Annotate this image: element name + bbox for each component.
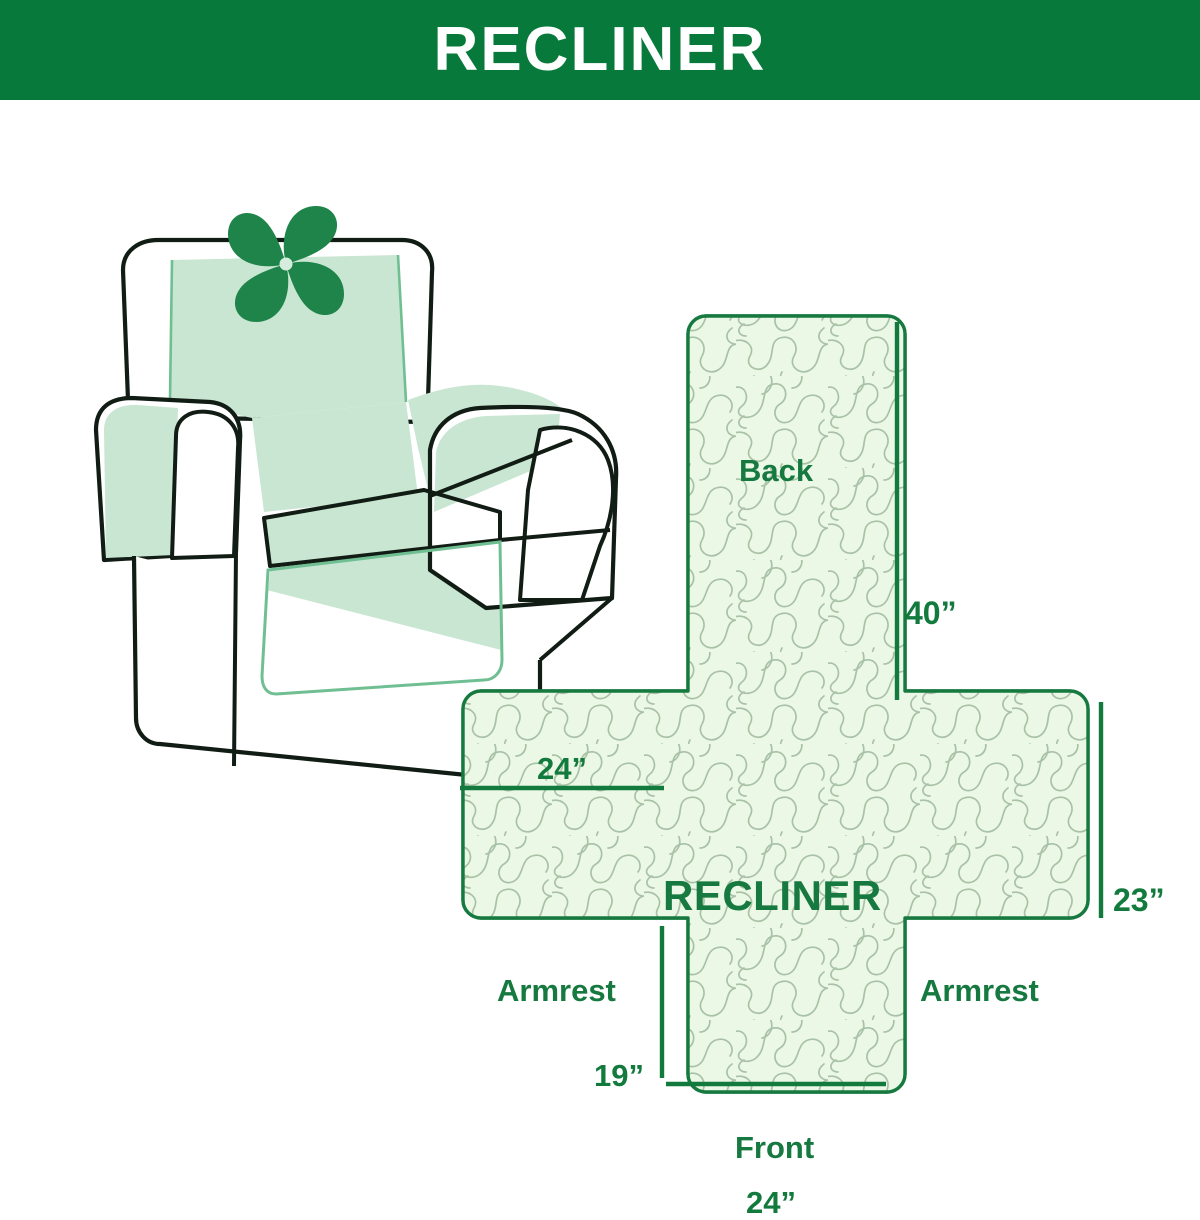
dimension-label-armrest-height: 23”	[1113, 884, 1165, 916]
dimension-label-back-height: 40”	[905, 597, 957, 629]
dimension-label-front-height: 19”	[594, 1060, 644, 1091]
panel-label-armrest-left: Armrest	[497, 975, 616, 1006]
diagram-canvas: Back RECLINER Armrest Armrest Front 40” …	[0, 100, 1200, 1200]
cover-size-diagram	[0, 100, 1200, 1200]
panel-label-center: RECLINER	[663, 875, 882, 917]
dimension-label-armrest-width: 24”	[537, 753, 587, 784]
page-title: RECLINER	[434, 19, 767, 81]
panel-label-back: Back	[739, 455, 813, 486]
header-banner: RECLINER	[0, 0, 1200, 100]
panel-label-armrest-right: Armrest	[920, 975, 1039, 1006]
panel-label-front: Front	[735, 1132, 814, 1163]
dimension-label-front-width: 24”	[746, 1187, 796, 1218]
